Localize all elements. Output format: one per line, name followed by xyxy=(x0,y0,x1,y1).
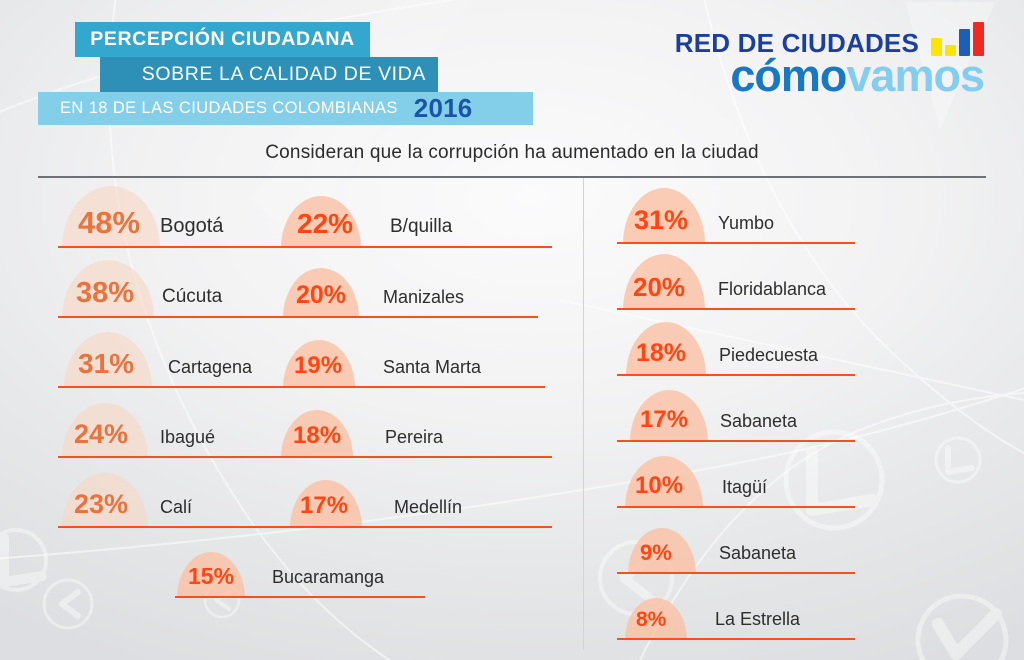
brand-logo: RED DE CIUDADES cómovamos xyxy=(675,22,984,98)
city-label: Calí xyxy=(160,498,192,516)
percentage-value: 17% xyxy=(300,494,348,518)
percentage-value: 22% xyxy=(297,210,353,238)
data-row: 20%Floridablanca xyxy=(583,244,1024,310)
percentage-value: 23% xyxy=(74,491,128,518)
data-row: 17%Sabaneta xyxy=(583,376,1024,442)
data-row: 8%La Estrella xyxy=(583,574,1024,640)
header-band-percepcion: PERCEPCIÓN CIUDADANA xyxy=(75,22,370,57)
right-column: 31%Yumbo20%Floridablanca18%Piedecuesta17… xyxy=(583,178,1024,640)
city-label: Bogotá xyxy=(160,216,223,236)
city-label: Manizales xyxy=(383,288,464,306)
header-band-ciudades: EN 18 DE LAS CIUDADES COLOMBIANAS 2016 xyxy=(38,92,533,125)
percentage-value: 18% xyxy=(293,424,341,448)
left-column: 48%Bogotá22%B/quilla38%Cúcuta20%Manizale… xyxy=(0,178,583,598)
data-row: 9%Sabaneta xyxy=(583,508,1024,574)
percentage-value: 20% xyxy=(633,274,685,300)
city-label: Pereira xyxy=(385,428,443,446)
city-label: La Estrella xyxy=(715,610,800,628)
data-row: 18%Piedecuesta xyxy=(583,310,1024,376)
header-year: 2016 xyxy=(414,93,473,124)
city-label: Bucaramanga xyxy=(272,568,384,586)
data-row: 48%Bogotá22%B/quilla xyxy=(0,178,583,248)
data-row: 31%Yumbo xyxy=(583,178,1024,244)
city-label: Ibagué xyxy=(160,428,215,446)
header-band-calidad: SOBRE LA CALIDAD DE VIDA xyxy=(100,57,438,92)
header-title-block: PERCEPCIÓN CIUDADANA SOBRE LA CALIDAD DE… xyxy=(0,0,560,130)
data-row: 15%Bucaramanga xyxy=(0,528,583,598)
logo-word-como: cómo xyxy=(730,50,846,101)
percentage-value: 31% xyxy=(78,350,134,378)
city-label: Piedecuesta xyxy=(719,346,818,364)
header-line-3: EN 18 DE LAS CIUDADES COLOMBIANAS xyxy=(60,99,398,118)
percentage-value: 10% xyxy=(635,474,683,498)
data-row: 10%Itagüí xyxy=(583,442,1024,508)
city-label: Yumbo xyxy=(718,214,774,232)
city-label: Sabaneta xyxy=(720,412,797,430)
percentage-value: 19% xyxy=(294,354,342,378)
percentage-value: 9% xyxy=(640,542,672,564)
city-label: Itagüí xyxy=(722,478,767,496)
page-title: Consideran que la corrupción ha aumentad… xyxy=(0,142,1024,164)
infographic-canvas: PERCEPCIÓN CIUDADANA SOBRE LA CALIDAD DE… xyxy=(0,0,1024,660)
percentage-value: 15% xyxy=(188,565,234,588)
percentage-value: 8% xyxy=(636,609,666,630)
city-label: Santa Marta xyxy=(383,358,481,376)
city-label: Cartagena xyxy=(168,358,252,376)
city-label: Sabaneta xyxy=(719,544,796,562)
city-label: Cúcuta xyxy=(162,287,222,306)
header-line-2: SOBRE LA CALIDAD DE VIDA xyxy=(142,63,426,86)
city-label: Floridablanca xyxy=(718,280,826,298)
percentage-value: 38% xyxy=(76,279,134,308)
logo-word-vamos: vamos xyxy=(846,50,984,101)
data-row: 38%Cúcuta20%Manizales xyxy=(0,248,583,318)
row-underline xyxy=(175,596,425,598)
percentage-value: 20% xyxy=(296,283,346,308)
city-label: Medellín xyxy=(394,498,462,516)
header-line-1: PERCEPCIÓN CIUDADANA xyxy=(90,28,354,51)
percentage-value: 24% xyxy=(74,421,128,448)
row-underline xyxy=(617,638,855,640)
percentage-value: 48% xyxy=(78,207,140,238)
percentage-value: 17% xyxy=(640,408,688,432)
data-row: 31%Cartagena19%Santa Marta xyxy=(0,318,583,388)
data-row: 23%Calí17%Medellín xyxy=(0,458,583,528)
data-row: 24%Ibagué18%Pereira xyxy=(0,388,583,458)
percentage-value: 18% xyxy=(636,341,686,366)
percentage-value: 31% xyxy=(634,207,688,234)
city-label: B/quilla xyxy=(390,217,452,236)
